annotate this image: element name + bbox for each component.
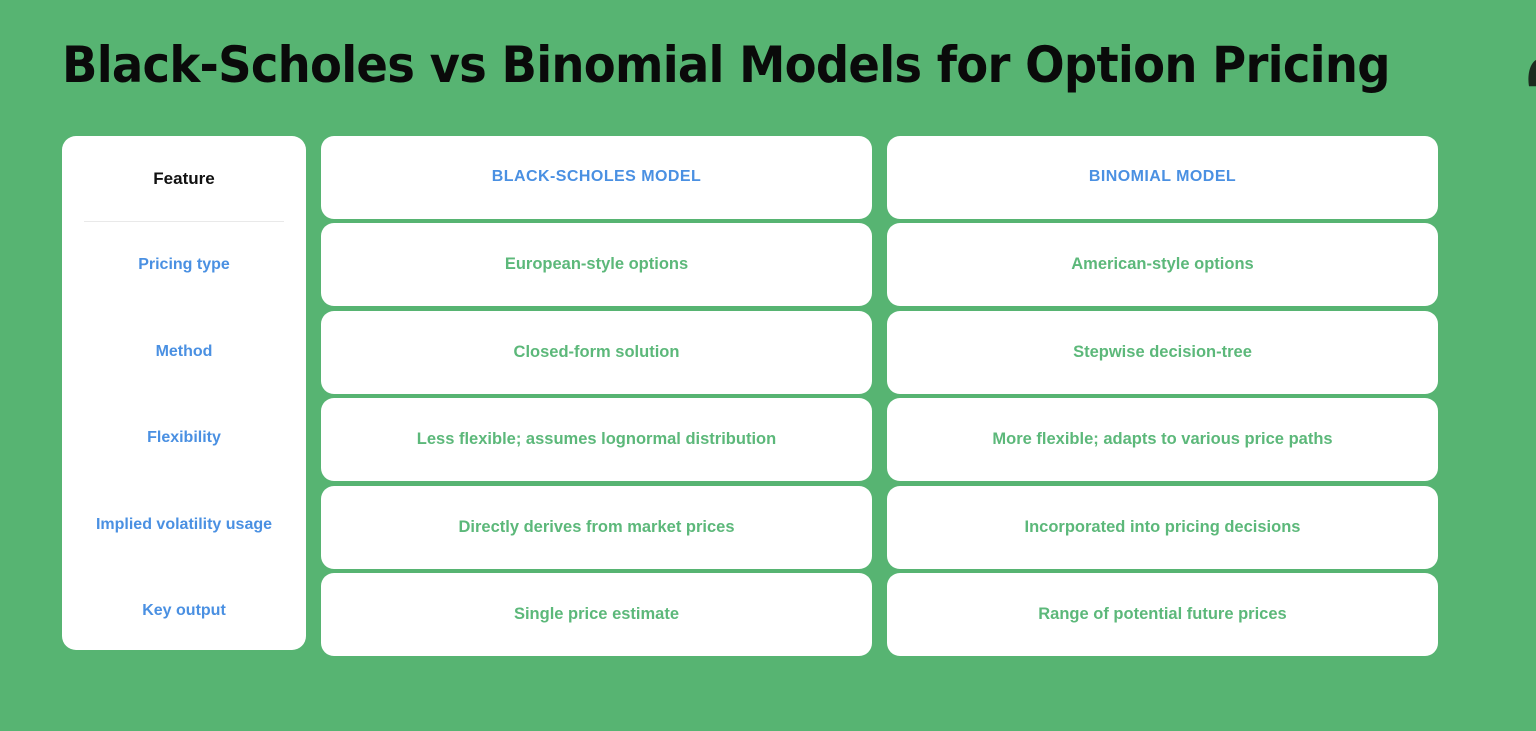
feature-label-flexibility: Flexibility (62, 395, 306, 481)
feature-label-pricing-type: Pricing type (62, 222, 306, 308)
comparison-table: Feature Pricing type Method Flexibility … (62, 136, 1438, 656)
cell-black-scholes-flexibility: Less flexible; assumes lognormal distrib… (321, 398, 872, 481)
cell-black-scholes-implied-volatility-usage: Directly derives from market prices (321, 486, 872, 569)
column-binomial: BINOMIAL MODEL American-style options St… (887, 136, 1438, 656)
samurai-mascot-logo-icon (1524, 29, 1536, 101)
column-header-binomial: BINOMIAL MODEL (887, 136, 1438, 219)
page-title: Black-Scholes vs Binomial Models for Opt… (62, 40, 1390, 90)
feature-column-header: Feature (62, 136, 306, 222)
feature-label-method: Method (62, 309, 306, 395)
cell-binomial-method: Stepwise decision-tree (887, 311, 1438, 394)
cell-binomial-pricing-type: American-style options (887, 223, 1438, 306)
feature-label-key-output: Key output (62, 568, 306, 650)
cell-binomial-flexibility: More flexible; adapts to various price p… (887, 398, 1438, 481)
page-header: Black-Scholes vs Binomial Models for Opt… (0, 0, 1536, 130)
cell-binomial-implied-volatility-usage: Incorporated into pricing decisions (887, 486, 1438, 569)
column-header-black-scholes: BLACK-SCHOLES MODEL (321, 136, 872, 219)
feature-column: Feature Pricing type Method Flexibility … (62, 136, 306, 650)
column-black-scholes: BLACK-SCHOLES MODEL European-style optio… (321, 136, 872, 656)
cell-black-scholes-key-output: Single price estimate (321, 573, 872, 656)
cell-binomial-key-output: Range of potential future prices (887, 573, 1438, 656)
cell-black-scholes-method: Closed-form solution (321, 311, 872, 394)
feature-label-implied-volatility-usage: Implied volatility usage (62, 482, 306, 568)
cell-black-scholes-pricing-type: European-style options (321, 223, 872, 306)
